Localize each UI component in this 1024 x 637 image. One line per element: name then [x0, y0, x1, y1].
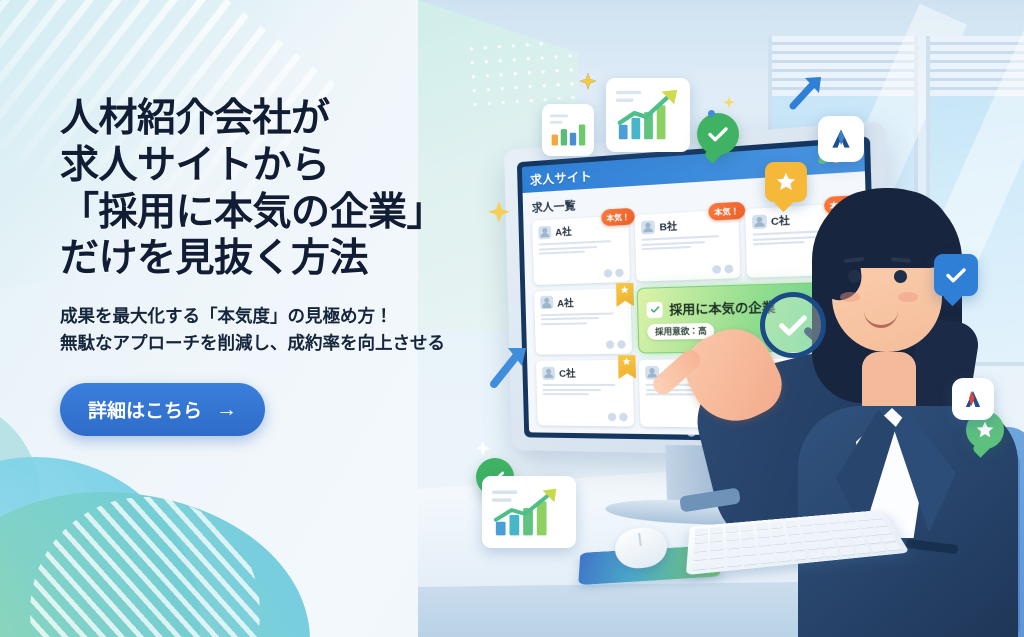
job-card-text-lines — [539, 240, 624, 255]
verified-icon — [620, 413, 629, 421]
brand-logo-icon — [818, 116, 864, 162]
page-title: 人材紹介会社が 求人サイトから 「採用に本気の企業」 だけを見抜く方法 — [60, 96, 500, 283]
browser-title: 求人サイト — [530, 167, 592, 188]
job-card-header: C社 — [542, 365, 627, 380]
company-avatar-icon — [752, 214, 767, 229]
applicant-icon — [712, 265, 721, 274]
verified-icon — [616, 268, 625, 277]
check-icon — [647, 302, 663, 318]
company-avatar-icon — [542, 367, 555, 380]
job-card-header: A社 — [540, 293, 625, 310]
company-name: C社 — [559, 366, 576, 380]
hero-copy: 人材紹介会社が 求人サイトから 「採用に本気の企業」 だけを見抜く方法 成果を最… — [60, 96, 500, 436]
magnifier-icon — [760, 292, 826, 358]
job-card-meta — [539, 268, 624, 279]
company-avatar-icon — [538, 225, 551, 239]
check-bubble-icon — [934, 254, 978, 296]
hero-banner: 求人サイト 求人一覧 本気！ A社 — [0, 0, 1024, 637]
job-card[interactable]: 本気！ A社 — [532, 215, 630, 284]
applicant-icon — [608, 413, 616, 421]
applicant-icon — [604, 269, 612, 278]
job-card-meta — [643, 264, 733, 276]
star-ribbon-icon — [618, 355, 636, 379]
sparkle-icon — [578, 72, 598, 92]
honki-badge: 本気！ — [601, 208, 635, 226]
arrow-up-icon — [785, 72, 825, 117]
headline-line-2: 求人サイトから — [60, 143, 500, 190]
honki-badge: 本気！ — [708, 202, 745, 221]
sparkle-icon — [722, 96, 736, 110]
applicant-icon — [606, 341, 614, 349]
company-avatar-icon — [641, 220, 655, 234]
subheadline-line-1: 成果を最大化する「本気度」の見極め方！ — [60, 303, 500, 330]
company-name: A社 — [555, 224, 572, 239]
details-cta-button[interactable]: 詳細はこちら → — [60, 383, 265, 436]
star-badge-icon — [765, 162, 807, 202]
star-ribbon-icon — [616, 282, 634, 306]
check-circle-icon — [697, 113, 739, 155]
job-card-meta — [541, 341, 626, 350]
bar-chart-card-icon — [542, 104, 594, 156]
company-name: C社 — [771, 212, 790, 228]
subheadline: 成果を最大化する「本気度」の見極め方！ 無駄なアプローチを削減し、成約率を向上さ… — [60, 303, 500, 357]
verified-icon — [724, 264, 733, 273]
growth-chart-card-icon — [606, 78, 690, 152]
job-card[interactable]: 本気！ B社 — [635, 209, 740, 281]
headline-line-1: 人材紹介会社が — [60, 96, 500, 143]
job-card[interactable]: C社 — [536, 360, 635, 426]
headline-line-3: 「採用に本気の企業」 — [60, 190, 500, 237]
desk-growth-chart-card — [482, 476, 576, 548]
job-card[interactable]: A社 — [534, 288, 632, 355]
company-name: B社 — [659, 218, 677, 234]
job-card-text-lines — [642, 234, 732, 250]
brand-logo-icon — [952, 378, 994, 420]
job-card-text-lines — [543, 384, 628, 395]
dot-accent — [708, 110, 715, 117]
arrow-right-icon: → — [216, 399, 237, 420]
company-name: A社 — [557, 295, 574, 310]
cta-label: 詳細はこちら — [88, 396, 202, 423]
subheadline-line-2: 無駄なアプローチを削減し、成約率を向上させる — [60, 330, 500, 357]
job-card-meta — [543, 412, 628, 421]
company-avatar-icon — [540, 296, 553, 310]
sparkle-icon — [474, 440, 492, 458]
headline-line-4: だけを見抜く方法 — [60, 236, 500, 283]
verified-icon — [618, 341, 627, 349]
job-card-text-lines — [541, 312, 626, 325]
